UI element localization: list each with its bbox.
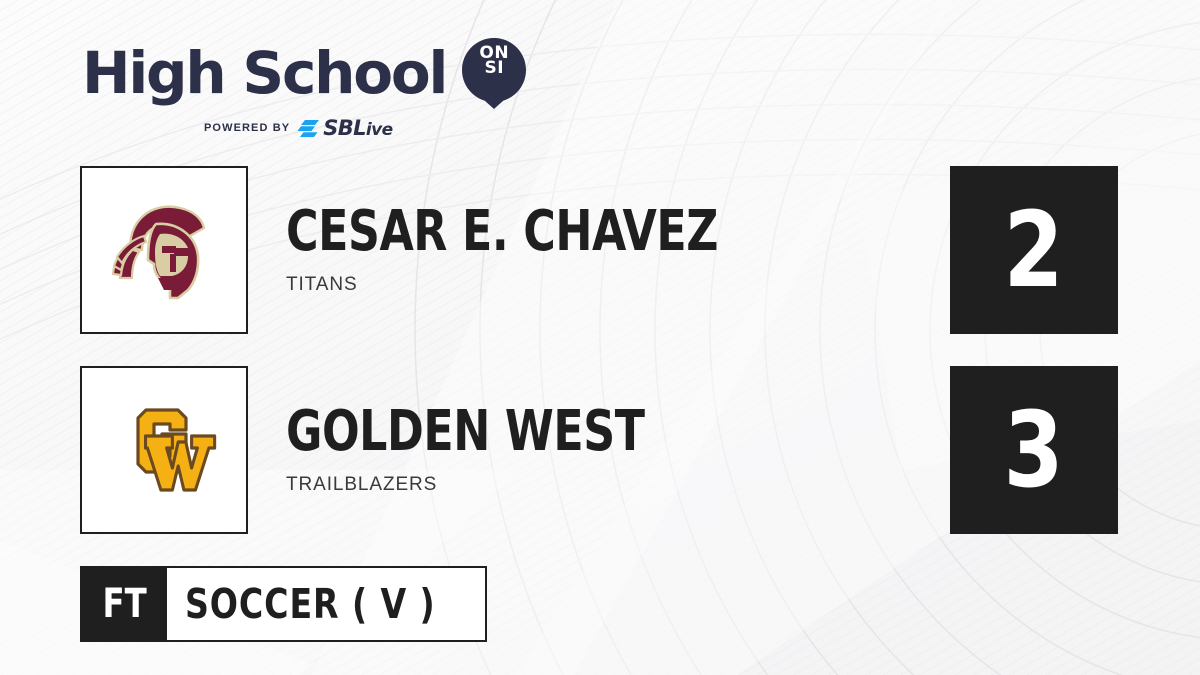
team-mascot: TRAILBLAZERS [286,474,693,496]
team-info: GOLDEN WEST TRAILBLAZERS [286,404,693,496]
scoreboard-graphic: High School ON SI POWERED BY [0,0,1200,675]
sport-label: SOCCER ( V ) [185,584,436,625]
score-value: 2 [1004,198,1064,302]
sblive-wordmark: SBLive [323,116,392,140]
pin-label: ON SI [460,46,528,76]
team-logo-box [80,366,248,534]
location-pin-icon: ON SI [460,36,528,110]
score-box-home: 2 [950,166,1118,334]
status-badge: FT [82,568,167,640]
score-box-away: 3 [950,366,1118,534]
brand-wordmark: High School [82,44,446,102]
team-row-away: GOLDEN WEST TRAILBLAZERS [80,366,693,534]
sblive-logo: SBLive [297,116,392,140]
team-logo-box [80,166,248,334]
score-value: 3 [1004,398,1064,502]
sport-label-container: SOCCER ( V ) [167,568,485,640]
team-name: CESAR E. CHAVEZ [286,204,718,260]
pin-label-si: SI [460,61,528,76]
team-mascot: TITANS [286,274,777,296]
brand-header: High School ON SI POWERED BY [82,36,528,140]
titans-spartan-helmet-logo [100,186,228,314]
team-info: CESAR E. CHAVEZ TITANS [286,204,777,296]
game-status-bar: FT SOCCER ( V ) [80,566,487,642]
sblive-name: SBL [323,116,366,140]
sblive-s-icon [297,119,321,138]
status-period-label: FT [102,584,146,624]
powered-by-label: POWERED BY [204,122,290,134]
golden-west-gw-monogram-logo [100,386,228,514]
team-row-home: CESAR E. CHAVEZ TITANS [80,166,777,334]
powered-by-row: POWERED BY SBLive [204,116,528,140]
sblive-suffix: ive [366,120,393,140]
team-name: GOLDEN WEST [286,404,645,460]
